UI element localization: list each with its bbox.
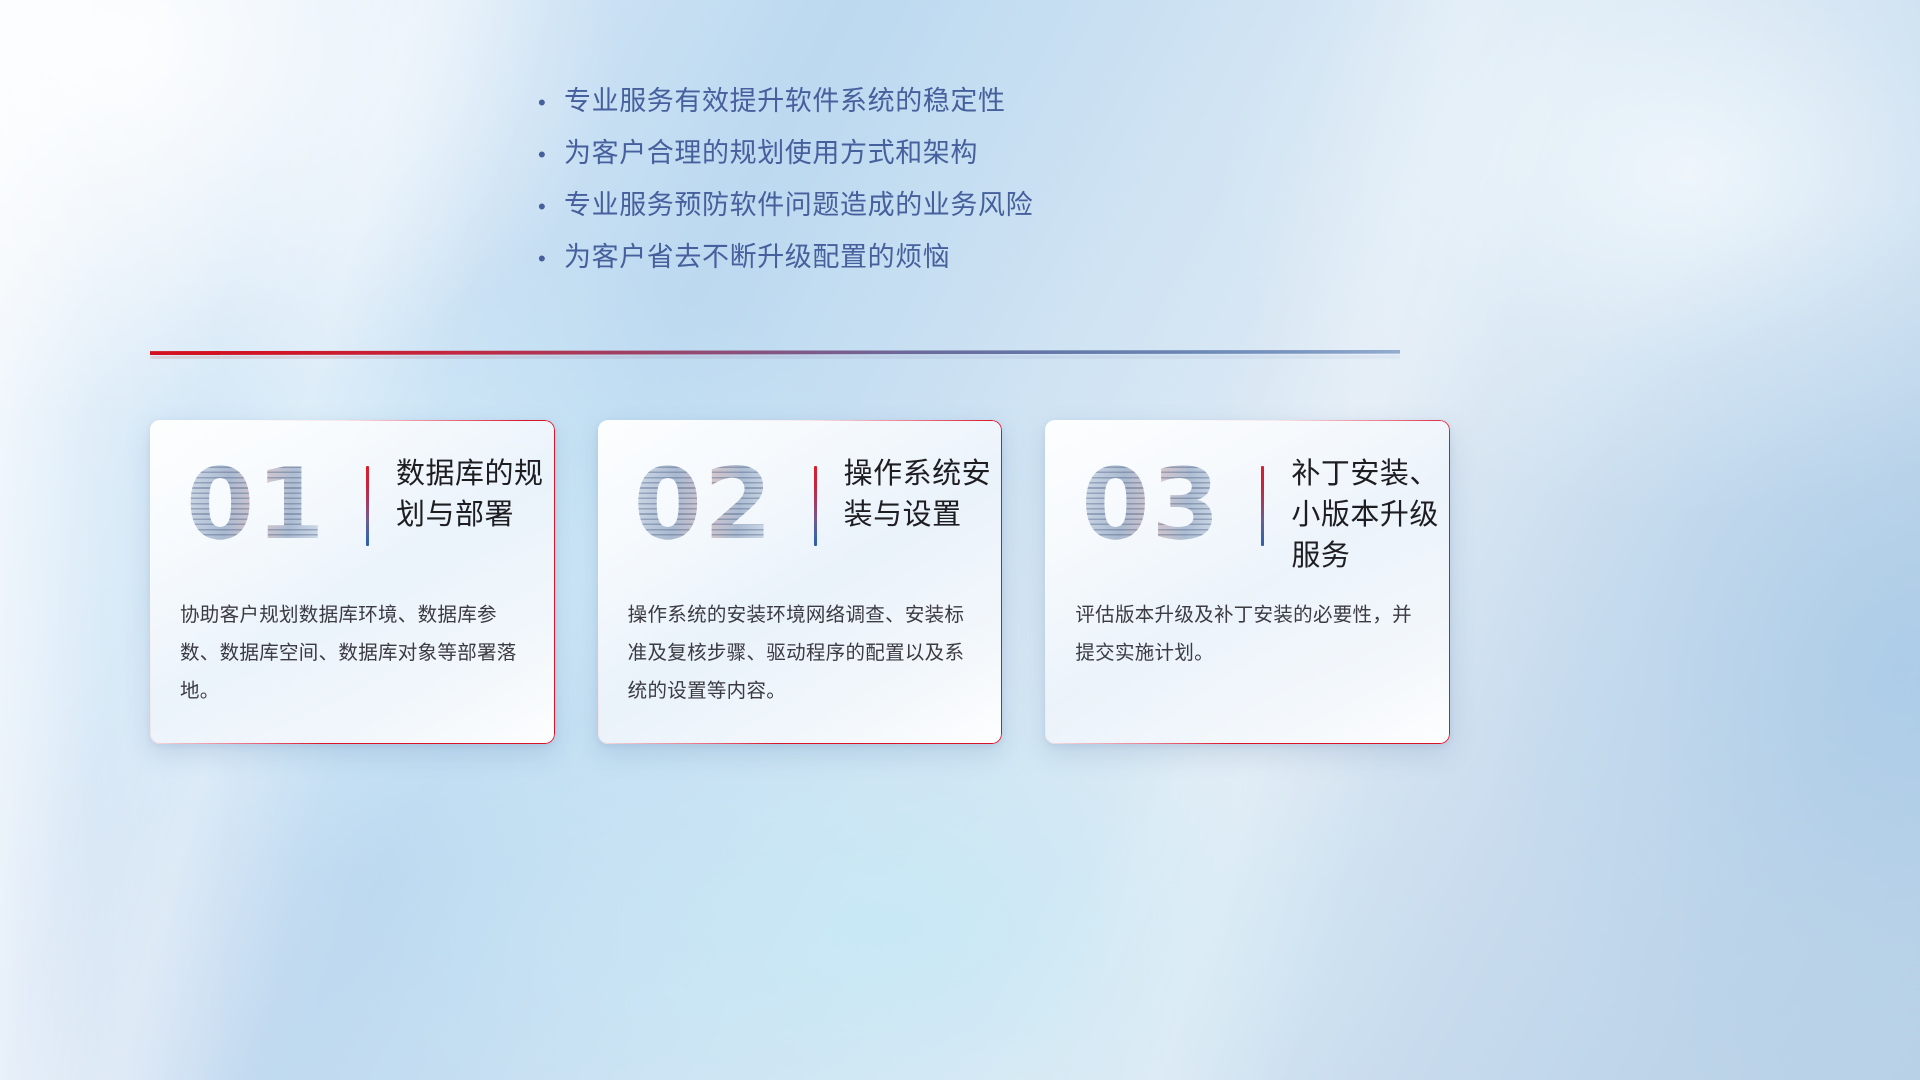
bullet-dot-icon: • — [538, 248, 564, 270]
card-title: 补丁安装、小版本升级服务 — [1291, 454, 1450, 578]
service-card[interactable]: 03 补丁安装、小版本升级服务 评估版本升级及补丁安装的必要性，并提交实施计划。 — [1045, 420, 1450, 744]
divider-shadow — [150, 355, 1400, 359]
card-header: 01 数据库的规划与部署 — [180, 454, 525, 566]
card-header: 02 操作系统安装与设置 — [628, 454, 973, 566]
divider-line — [150, 350, 1400, 355]
card-divider-rule — [366, 466, 369, 546]
card-description: 协助客户规划数据库环境、数据库参数、数据库空间、数据库对象等部署落地。 — [180, 596, 529, 710]
bullet-text: 为客户合理的规划使用方式和架构 — [564, 140, 978, 167]
slide-canvas: • 专业服务有效提升软件系统的稳定性 • 为客户合理的规划使用方式和架构 • 专… — [0, 0, 1920, 1080]
bullet-text: 为客户省去不断升级配置的烦恼 — [564, 244, 950, 271]
card-number: 02 — [634, 456, 774, 554]
list-item: • 专业服务预防软件问题造成的业务风险 — [538, 192, 1238, 244]
card-divider-rule — [1261, 466, 1264, 546]
bullet-dot-icon: • — [538, 196, 564, 218]
list-item: • 专业服务有效提升软件系统的稳定性 — [538, 88, 1238, 140]
card-number: 01 — [186, 456, 326, 554]
list-item: • 为客户省去不断升级配置的烦恼 — [538, 244, 1238, 296]
card-number: 03 — [1081, 456, 1221, 554]
benefits-bullet-list: • 专业服务有效提升软件系统的稳定性 • 为客户合理的规划使用方式和架构 • 专… — [538, 88, 1238, 296]
card-header: 03 补丁安装、小版本升级服务 — [1075, 454, 1420, 566]
card-title: 操作系统安装与设置 — [844, 454, 1003, 536]
service-card[interactable]: 02 操作系统安装与设置 操作系统的安装环境网络调查、安装标准及复核步骤、驱动程… — [598, 420, 1003, 744]
card-description: 操作系统的安装环境网络调查、安装标准及复核步骤、驱动程序的配置以及系统的设置等内… — [628, 596, 977, 710]
service-card[interactable]: 01 数据库的规划与部署 协助客户规划数据库环境、数据库参数、数据库空间、数据库… — [150, 420, 555, 744]
card-title: 数据库的规划与部署 — [396, 454, 555, 536]
section-divider — [150, 346, 1400, 364]
card-description: 评估版本升级及补丁安装的必要性，并提交实施计划。 — [1075, 596, 1424, 672]
card-divider-rule — [814, 466, 817, 546]
service-card-group: 01 数据库的规划与部署 协助客户规划数据库环境、数据库参数、数据库空间、数据库… — [150, 420, 1450, 744]
bullet-text: 专业服务有效提升软件系统的稳定性 — [564, 88, 1006, 115]
list-item: • 为客户合理的规划使用方式和架构 — [538, 140, 1238, 192]
bullet-dot-icon: • — [538, 144, 564, 166]
bullet-text: 专业服务预防软件问题造成的业务风险 — [564, 192, 1033, 219]
bullet-dot-icon: • — [538, 92, 564, 114]
